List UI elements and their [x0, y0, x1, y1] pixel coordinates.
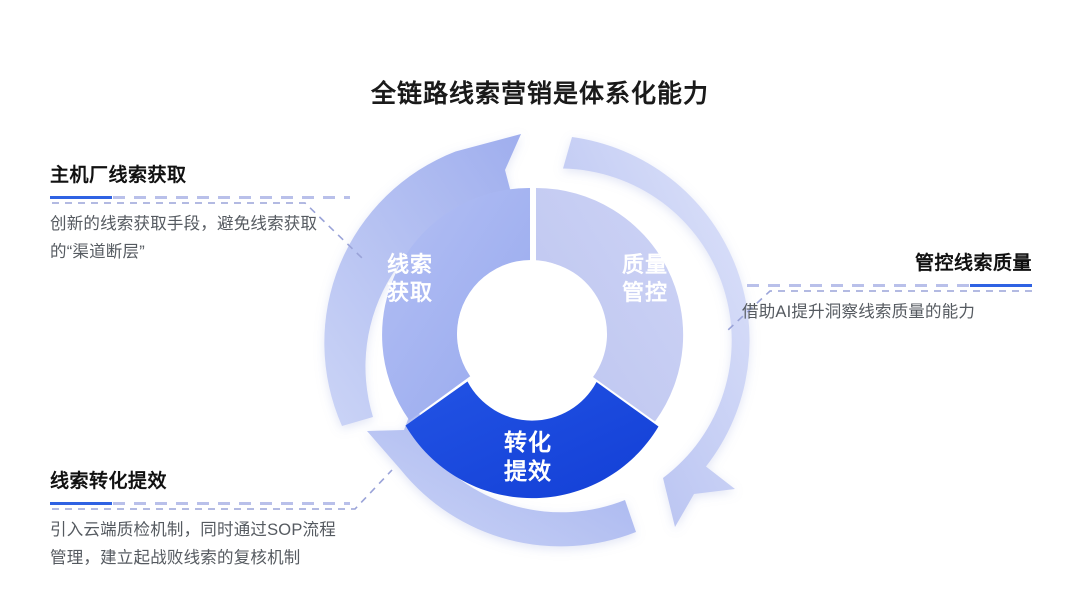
callout-top-left: 主机厂线索获取 创新的线索获取手段，避免线索获取的“渠道断层” [50, 160, 350, 267]
callout-top-left-title: 主机厂线索获取 [50, 160, 350, 187]
callout-bottom-left-title: 线索转化提效 [50, 466, 350, 493]
wheel-center-hole [457, 260, 605, 408]
callout-bottom-left-body: 引入云端质检机制，同时通过SOP流程管理，建立起战败线索的复核机制 [50, 516, 350, 573]
callout-right: 管控线索质量 借助AI提升洞察线索质量的能力 [742, 248, 1032, 326]
callout-right-rule [742, 284, 1032, 287]
callout-right-body: 借助AI提升洞察线索质量的能力 [742, 298, 1032, 326]
callout-right-title: 管控线索质量 [742, 248, 1032, 275]
callout-top-left-body: 创新的线索获取手段，避免线索获取的“渠道断层” [50, 210, 350, 267]
callout-top-left-rule [50, 196, 350, 199]
callout-bottom-left-rule [50, 502, 350, 505]
callout-bottom-left: 线索转化提效 引入云端质检机制，同时通过SOP流程管理，建立起战败线索的复核机制 [50, 466, 350, 573]
